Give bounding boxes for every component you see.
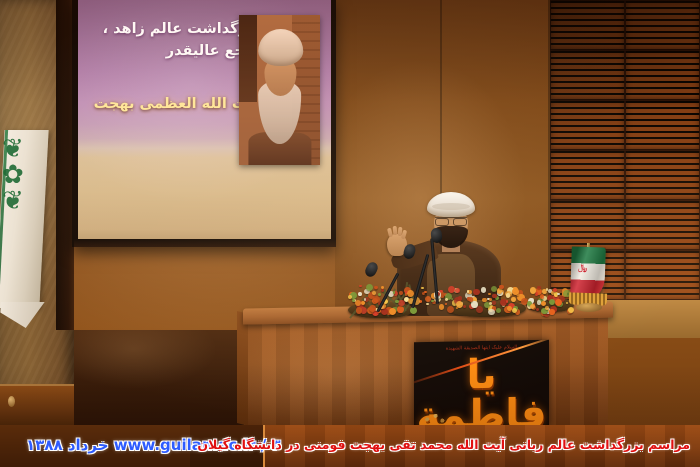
- flower-bloom: [447, 306, 454, 313]
- acoustic-panel-tile: [550, 50, 625, 100]
- flower-bloom: [492, 301, 495, 304]
- flower-bloom: [455, 288, 460, 293]
- acoustic-panel-tile: [550, 150, 625, 200]
- flower-bloom: [426, 303, 428, 305]
- flower-bloom: [499, 285, 504, 290]
- speaker-turban: [427, 192, 475, 217]
- flower-bloom: [506, 300, 508, 302]
- flower-bloom: [358, 292, 362, 296]
- flower-bloom: [424, 291, 426, 293]
- flower-bloom: [369, 305, 376, 312]
- flower-bloom: [397, 306, 403, 312]
- flower-bloom: [553, 288, 557, 292]
- flower-bloom: [497, 288, 502, 293]
- flower-bloom: [489, 302, 492, 305]
- acoustic-panel-tile: [625, 50, 700, 100]
- flower-bloom: [356, 307, 362, 313]
- flower-bloom: [469, 297, 473, 301]
- flower-arrangement: [340, 276, 575, 320]
- banner-ornament-icon: ❦✿❦: [2, 136, 32, 256]
- flag-emblem-icon: ﷼: [578, 264, 587, 272]
- flower-bloom: [421, 287, 424, 290]
- flower-bloom: [366, 284, 373, 291]
- caption-bar: www.guilan.ac.ir / ۳ خرداد ۱۳۸۸ مراسم بز…: [0, 425, 700, 467]
- flower-bloom: [359, 285, 361, 287]
- photo-container: مراسم بزرگداشت عالم زاهد ، مرجع عالیقدر …: [0, 0, 700, 467]
- flower-bloom: [445, 298, 448, 301]
- flower-bloom: [364, 298, 366, 300]
- flower-bloom: [481, 287, 486, 292]
- portrait-sepia-tint: [239, 15, 320, 165]
- flower-bloom: [445, 303, 447, 305]
- flower-bloom: [471, 301, 477, 307]
- acoustic-panel-tile: [625, 0, 700, 50]
- ayatollah-portrait-photo: [239, 15, 320, 165]
- audience-area: [74, 330, 244, 425]
- flower-bloom: [530, 287, 536, 293]
- flower-bloom: [374, 286, 378, 290]
- flower-bloom: [506, 293, 510, 297]
- acoustic-panel-tile: [550, 0, 625, 50]
- projection-screen: مراسم بزرگداشت عالم زاهد ، مرجع عالیقدر …: [78, 0, 331, 239]
- flag-cloth: [570, 246, 606, 297]
- acoustic-panel-tile: [625, 100, 700, 150]
- flower-bloom: [488, 293, 491, 296]
- speaker-finger: [401, 230, 407, 240]
- ya-fatema-banner: السلام علیک ایتها الصدیقة الشهیدة یا فاط…: [414, 340, 549, 429]
- flower-bloom: [439, 304, 445, 310]
- flower-bloom: [540, 294, 544, 298]
- acoustic-panel-tile: [625, 250, 700, 300]
- flower-bloom: [545, 306, 549, 310]
- acoustic-panel-tile: [625, 150, 700, 200]
- flower-bloom: [512, 288, 519, 295]
- flower-bloom: [407, 290, 414, 297]
- projection-screen-bottom-edge: [74, 239, 336, 247]
- caption-event-description: مراسم بزرگداشت عالم ربانی آیت الله محمد …: [197, 437, 690, 452]
- flag-stand-base: [576, 303, 602, 312]
- acoustic-panel-tile: [625, 200, 700, 250]
- flower-bloom: [549, 309, 554, 314]
- acoustic-panel-tile: [550, 100, 625, 150]
- flower-bloom: [492, 294, 496, 298]
- decorative-wall-banner: ❦✿❦: [0, 130, 44, 320]
- flower-bloom: [393, 291, 395, 293]
- banner-floral-motif-icon: [422, 411, 448, 425]
- flower-bloom: [473, 289, 479, 295]
- flower-bloom: [557, 293, 559, 295]
- flower-bloom: [378, 293, 381, 296]
- flower-bloom: [399, 291, 403, 295]
- wall-fixture: [8, 396, 15, 407]
- speaker-glasses: [435, 217, 467, 224]
- flower-bloom: [448, 286, 455, 293]
- flower-bloom: [372, 291, 376, 295]
- iran-flag: ﷼: [566, 243, 612, 327]
